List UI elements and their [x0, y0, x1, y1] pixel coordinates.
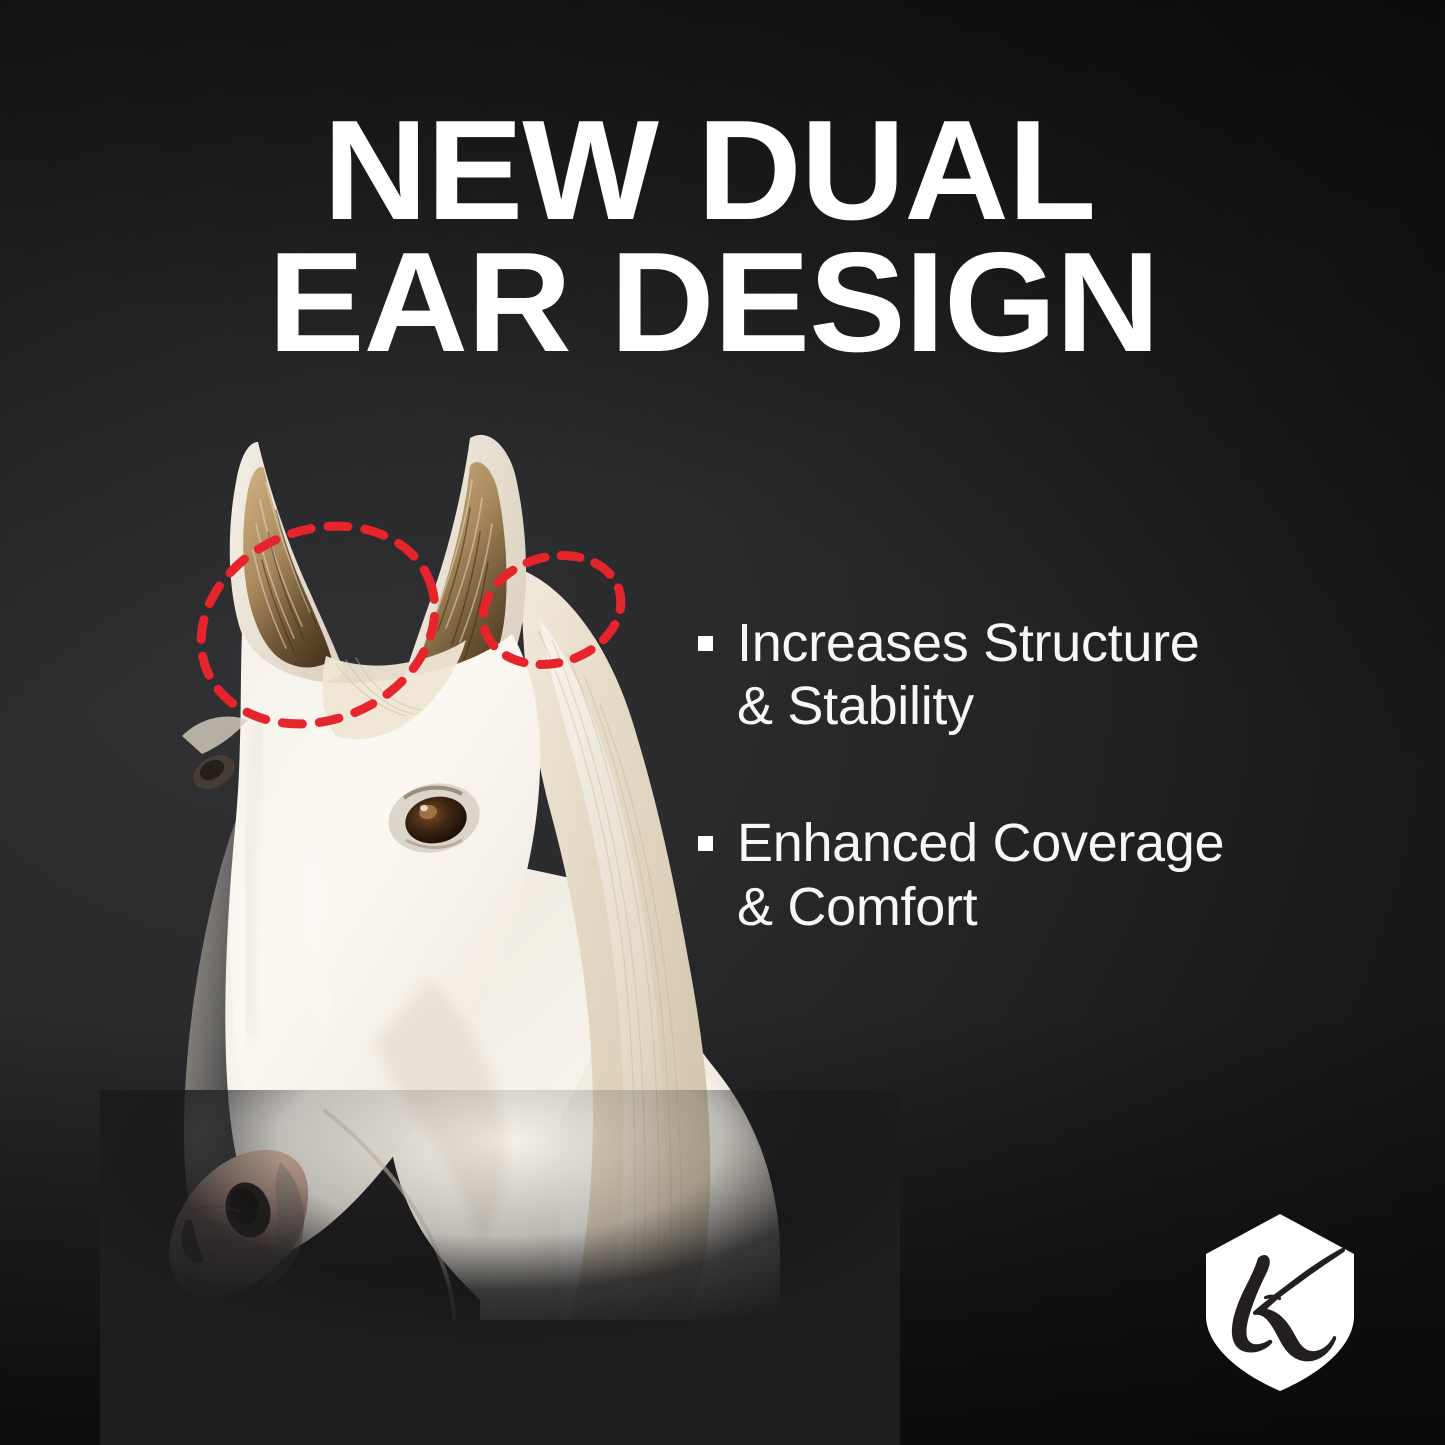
feature-text: Increases Structure & Stability [737, 612, 1200, 738]
page-title: NEW DUAL EAR DESIGN [268, 105, 1247, 369]
brand-logo [1196, 1210, 1364, 1395]
list-item: Enhanced Coverage & Comfort [698, 812, 1358, 938]
feature-text: Enhanced Coverage & Comfort [737, 812, 1224, 938]
shield-icon [1206, 1214, 1354, 1391]
headline-line-2: EAR DESIGN [268, 237, 1247, 369]
promo-banner: NEW DUAL EAR DESIGN Increases Structure … [0, 0, 1445, 1445]
square-bullet-icon [698, 836, 713, 851]
list-item: Increases Structure & Stability [698, 612, 1358, 738]
feature-list: Increases Structure & Stability Enhanced… [698, 612, 1358, 1013]
square-bullet-icon [698, 636, 713, 651]
headline-line-1: NEW DUAL [268, 105, 1247, 237]
